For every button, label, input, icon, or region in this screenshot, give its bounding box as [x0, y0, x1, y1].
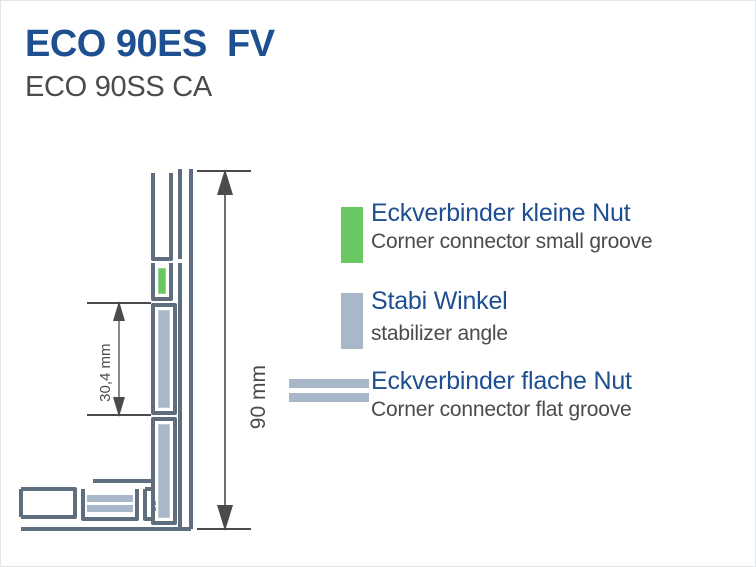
legend-text: Stabi Winkel stabilizer angle — [371, 285, 745, 346]
diagram-page: ECO 90ES FV ECO 90SS CA — [0, 0, 756, 567]
gray-block-swatch — [341, 293, 363, 349]
dimension-90mm — [197, 169, 251, 531]
legend-label-de: Eckverbinder flache Nut — [371, 367, 745, 395]
dimension-30-4mm-label: 30,4 mm — [97, 344, 114, 402]
insert-gray-flat-groove — [87, 495, 133, 512]
legend-item-stabilizer-angle: Stabi Winkel stabilizer angle — [289, 285, 745, 349]
legend-swatch-wrap — [289, 371, 371, 402]
legend: Eckverbinder kleine Nut Corner connector… — [289, 199, 745, 455]
legend-label-en: Corner connector small groove — [371, 229, 745, 254]
insert-green-small-groove — [157, 267, 167, 295]
gray-bar-bottom — [289, 393, 369, 402]
legend-label-de: Stabi Winkel — [371, 287, 745, 315]
green-block-swatch — [341, 207, 363, 263]
profile-cross-section-drawing — [1, 151, 291, 551]
gray-bar-top — [289, 379, 369, 388]
page-title: ECO 90ES FV — [25, 25, 445, 63]
gray-bars-swatch — [289, 379, 369, 402]
legend-label-en: stabilizer angle — [371, 321, 745, 346]
legend-swatch-wrap — [289, 199, 371, 263]
legend-text: Eckverbinder flache Nut Corner connector… — [371, 371, 745, 422]
legend-item-corner-connector-flat-groove: Eckverbinder flache Nut Corner connector… — [289, 371, 745, 433]
legend-label-de: Eckverbinder kleine Nut — [371, 199, 745, 227]
legend-label-en: Corner connector flat groove — [371, 397, 745, 422]
legend-swatch-wrap — [289, 285, 371, 349]
legend-text: Eckverbinder kleine Nut Corner connector… — [371, 199, 745, 254]
page-subtitle: ECO 90SS CA — [25, 73, 445, 102]
legend-item-corner-connector-small-groove: Eckverbinder kleine Nut Corner connector… — [289, 199, 745, 263]
title-block: ECO 90ES FV ECO 90SS CA — [25, 25, 445, 102]
dimension-90mm-label: 90 mm — [247, 365, 271, 429]
